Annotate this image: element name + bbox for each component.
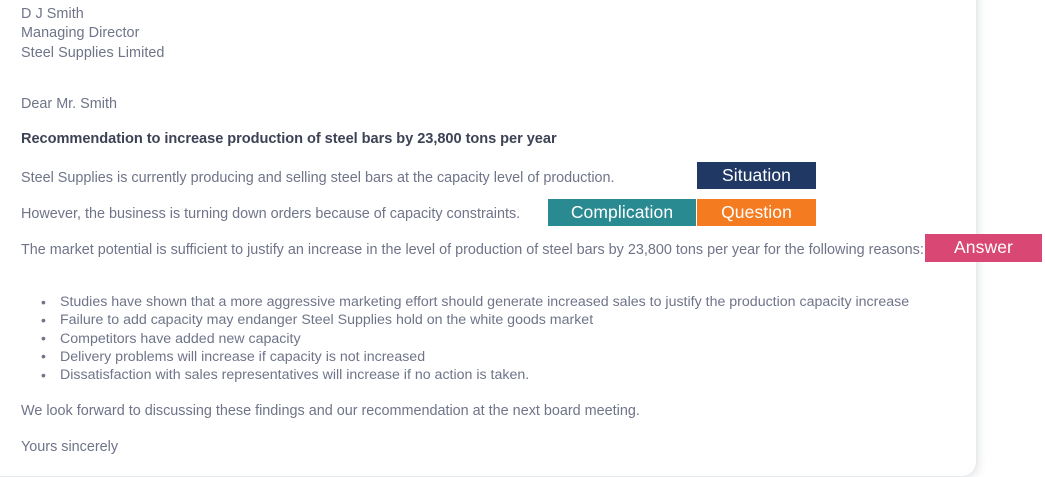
badge-question: Question: [697, 199, 816, 226]
paragraph-closing: We look forward to discussing these find…: [21, 401, 640, 421]
paragraph-signoff: Yours sincerely: [21, 437, 118, 457]
badge-complication: Complication: [548, 199, 696, 226]
list-item: Studies have shown that a more aggressiv…: [39, 293, 909, 311]
recipient-title: Managing Director: [21, 24, 165, 43]
paragraph-answer: The market potential is sufficient to ju…: [21, 240, 926, 260]
list-item: Competitors have added new capacity: [39, 330, 909, 348]
list-item: Dissatisfaction with sales representativ…: [39, 366, 909, 384]
badge-answer: Answer: [925, 234, 1042, 262]
badge-situation: Situation: [697, 162, 816, 189]
paragraph-complication: However, the business is turning down or…: [21, 204, 520, 224]
salutation: Dear Mr. Smith: [21, 96, 117, 112]
recipient-name: D J Smith: [21, 5, 165, 24]
screenshot-root: D J Smith Managing Director Steel Suppli…: [0, 0, 1045, 477]
list-item: Failure to add capacity may endanger Ste…: [39, 311, 909, 329]
list-item: Delivery problems will increase if capac…: [39, 348, 909, 366]
reasons-list: Studies have shown that a more aggressiv…: [39, 293, 909, 384]
subject-heading: Recommendation to increase production of…: [21, 131, 557, 147]
recipient-address-block: D J Smith Managing Director Steel Suppli…: [21, 5, 165, 63]
recipient-company: Steel Supplies Limited: [21, 44, 165, 63]
paragraph-situation: Steel Supplies is currently producing an…: [21, 168, 615, 188]
